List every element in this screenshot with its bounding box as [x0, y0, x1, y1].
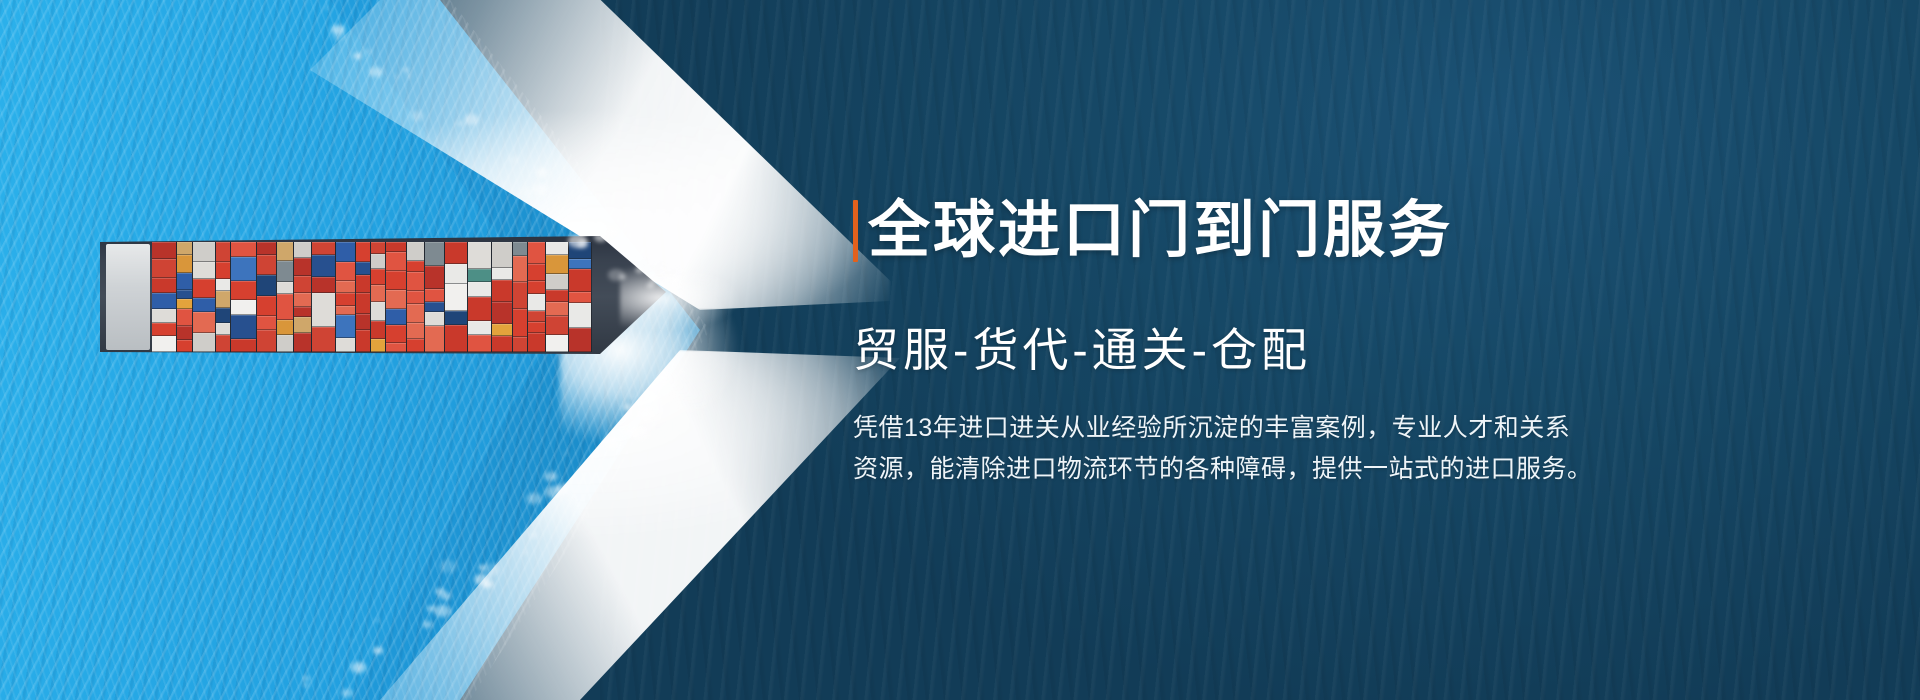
- container-stack: [193, 242, 216, 352]
- foam-speck: [544, 472, 558, 482]
- shipping-container: [528, 294, 545, 311]
- container-stack: [336, 242, 356, 352]
- foam-speck: [533, 184, 548, 195]
- foam-speck: [482, 563, 500, 576]
- shipping-container: [569, 292, 591, 302]
- container-stack: [546, 242, 569, 352]
- shipping-container: [193, 279, 215, 299]
- container-stack: [386, 242, 407, 352]
- foam-speck: [464, 114, 479, 125]
- shipping-container: [528, 322, 545, 333]
- foam-speck: [530, 533, 537, 538]
- shipping-container: [231, 315, 256, 339]
- shipping-container: [407, 272, 424, 292]
- shipping-container: [425, 289, 444, 302]
- foam-speck: [581, 217, 591, 224]
- shipping-container: [216, 323, 230, 334]
- shipping-container: [193, 333, 215, 352]
- foam-speck: [373, 647, 383, 654]
- shipping-container: [513, 337, 527, 352]
- container-stacks: [152, 242, 626, 352]
- body-line: 资源，能清除进口物流环节的各种障碍，提供一站式的进口服务。: [853, 449, 1753, 490]
- shipping-container: [294, 242, 311, 258]
- foam-speck: [577, 240, 588, 248]
- hero-banner: 全球进口门到门服务 贸服-货代-通关-仓配 凭借13年进口进关从业经验所沉淀的丰…: [0, 0, 1920, 700]
- container-stack: [407, 242, 425, 352]
- shipping-container: [193, 312, 215, 333]
- foam-speck: [635, 267, 644, 273]
- shipping-container: [407, 291, 424, 304]
- foam-speck: [563, 452, 568, 455]
- foam-speck: [630, 417, 634, 420]
- container-stack: [294, 242, 312, 352]
- foam-speck: [592, 453, 602, 460]
- shipping-container: [312, 242, 335, 255]
- shipping-container: [468, 335, 491, 352]
- shipping-container: [216, 262, 230, 279]
- shipping-container: [546, 290, 568, 303]
- shipping-container: [193, 262, 215, 278]
- shipping-container: [492, 280, 512, 302]
- container-stack: [513, 242, 528, 352]
- shipping-container: [277, 282, 293, 294]
- shipping-container: [336, 293, 355, 305]
- foam-speck: [483, 581, 493, 588]
- shipping-container: [177, 242, 192, 255]
- shipping-container: [216, 279, 230, 292]
- shipping-container: [492, 336, 512, 352]
- shipping-container: [294, 317, 311, 333]
- shipping-container: [152, 309, 176, 323]
- shipping-container: [216, 242, 230, 262]
- accent-bar-icon: [853, 200, 858, 262]
- shipping-container: [468, 297, 491, 320]
- shipping-container: [513, 242, 527, 256]
- shipping-container: [386, 290, 406, 309]
- shipping-container: [257, 275, 276, 297]
- shipping-container: [425, 326, 444, 352]
- container-ship: [100, 236, 670, 358]
- shipping-container: [492, 268, 512, 281]
- banner-content: 全球进口门到门服务 贸服-货代-通关-仓配 凭借13年进口进关从业经验所沉淀的丰…: [853, 200, 1853, 489]
- foam-speck: [605, 437, 621, 449]
- shipping-container: [336, 306, 355, 315]
- shipping-container: [468, 242, 491, 269]
- shipping-container: [386, 252, 406, 271]
- foam-speck: [647, 283, 654, 288]
- shipping-container: [277, 335, 293, 352]
- shipping-container: [356, 242, 370, 262]
- shipping-container: [177, 340, 192, 352]
- shipping-container: [371, 269, 385, 284]
- shipping-container: [371, 242, 385, 254]
- shipping-container: [177, 299, 192, 310]
- shipping-container: [152, 242, 176, 259]
- shipping-container: [492, 324, 512, 336]
- shipping-container: [152, 293, 176, 309]
- shipping-container: [425, 312, 444, 326]
- headline-row: 全球进口门到门服务: [853, 200, 1853, 262]
- foam-speck: [556, 484, 569, 493]
- foam-speck: [456, 121, 463, 126]
- shipping-container: [386, 309, 406, 325]
- shipping-container: [386, 325, 406, 343]
- shipping-container: [445, 242, 467, 264]
- shipping-container: [569, 259, 591, 269]
- shipping-container: [336, 315, 355, 338]
- shipping-container: [294, 307, 311, 317]
- shipping-container: [386, 242, 406, 252]
- shipping-container: [152, 323, 176, 335]
- shipping-container: [257, 330, 276, 352]
- shipping-container: [231, 257, 256, 281]
- foam-speck: [508, 156, 519, 164]
- page-title: 全球进口门到门服务: [868, 200, 1453, 262]
- ship-superstructure: [106, 244, 150, 350]
- shipping-container: [231, 242, 256, 257]
- shipping-container: [468, 282, 491, 297]
- shipping-container: [257, 255, 276, 275]
- shipping-container: [277, 320, 293, 335]
- shipping-container: [177, 309, 192, 325]
- container-stack: [569, 242, 592, 352]
- shipping-container: [528, 264, 545, 282]
- shipping-container: [371, 302, 385, 321]
- foam-speck: [369, 67, 383, 77]
- shipping-container: [356, 293, 370, 314]
- shipping-container: [546, 255, 568, 274]
- foam-speck: [521, 188, 532, 196]
- shipping-container: [468, 269, 491, 282]
- foam-speck: [526, 493, 541, 504]
- container-stack: [371, 242, 386, 352]
- shipping-container: [546, 274, 568, 290]
- foam-speck: [435, 588, 445, 595]
- foam-speck: [332, 31, 345, 40]
- shipping-container: [445, 284, 467, 311]
- shipping-container: [356, 314, 370, 330]
- foam-speck: [350, 639, 353, 641]
- container-stack: [277, 242, 294, 352]
- shipping-container: [177, 290, 192, 299]
- shipping-container: [513, 309, 527, 336]
- foam-speck: [631, 427, 649, 440]
- shipping-container: [277, 242, 293, 261]
- foam-speck: [353, 53, 362, 59]
- shipping-container: [569, 328, 591, 352]
- shipping-container: [528, 281, 545, 293]
- shipping-container: [407, 242, 424, 261]
- foam-speck: [523, 551, 527, 554]
- shipping-container: [546, 242, 568, 255]
- shipping-container: [546, 316, 568, 335]
- shipping-container: [445, 264, 467, 285]
- shipping-container: [425, 242, 444, 266]
- container-stack: [216, 242, 231, 352]
- container-stack: [492, 242, 513, 352]
- shipping-container: [513, 256, 527, 282]
- shipping-container: [177, 273, 192, 290]
- shipping-container: [216, 291, 230, 308]
- shipping-container: [336, 262, 355, 282]
- shipping-container: [407, 304, 424, 323]
- shipping-container: [216, 335, 230, 352]
- container-stack: [177, 242, 193, 352]
- shipping-container: [371, 285, 385, 302]
- shipping-container: [231, 339, 256, 352]
- shipping-container: [569, 269, 591, 292]
- foam-speck: [560, 210, 564, 213]
- shipping-container: [277, 261, 293, 282]
- shipping-container: [193, 242, 215, 262]
- foam-speck: [434, 605, 451, 617]
- container-stack: [152, 242, 177, 352]
- shipping-container: [528, 333, 545, 352]
- container-stack: [425, 242, 445, 352]
- foam-speck: [536, 168, 548, 176]
- foam-speck: [623, 404, 632, 410]
- shipping-container: [177, 255, 192, 273]
- shipping-container: [216, 308, 230, 324]
- shipping-container: [312, 327, 335, 352]
- shipping-container: [445, 311, 467, 325]
- shipping-container: [257, 316, 276, 330]
- body-line: 凭借13年进口进关从业经验所沉淀的丰富案例，专业人才和关系: [853, 408, 1753, 449]
- shipping-container: [528, 311, 545, 323]
- shipping-container: [336, 338, 355, 352]
- shipping-container: [152, 259, 176, 277]
- shipping-container: [312, 255, 335, 278]
- shipping-container: [294, 258, 311, 276]
- foam-speck: [364, 49, 371, 54]
- shipping-container: [336, 281, 355, 293]
- shipping-container: [231, 300, 256, 315]
- container-stack: [445, 242, 468, 352]
- subtitle: 贸服-货代-通关-仓配: [853, 314, 1853, 380]
- shipping-container: [445, 325, 467, 352]
- shipping-container: [569, 303, 591, 328]
- shipping-container: [152, 278, 176, 293]
- shipping-container: [546, 302, 568, 316]
- shipping-container: [294, 276, 311, 293]
- shipping-container: [356, 275, 370, 293]
- foam-speck: [403, 68, 408, 72]
- shipping-container: [468, 321, 491, 335]
- container-stack: [356, 242, 371, 352]
- shipping-container: [257, 296, 276, 315]
- shipping-container: [177, 326, 192, 340]
- shipping-container: [546, 335, 568, 352]
- shipping-container: [371, 321, 385, 339]
- shipping-container: [386, 271, 406, 290]
- shipping-container: [425, 302, 444, 313]
- shipping-container: [407, 261, 424, 271]
- container-stack: [257, 242, 277, 352]
- shipping-container: [492, 302, 512, 324]
- shipping-container: [492, 242, 512, 268]
- shipping-container: [407, 323, 424, 339]
- shipping-container: [356, 330, 370, 352]
- shipping-container: [371, 254, 385, 269]
- shipping-container: [407, 339, 424, 352]
- ship-bow-wash: [620, 266, 770, 330]
- shipping-container: [336, 242, 355, 262]
- foam-speck: [410, 111, 423, 120]
- shipping-container: [513, 282, 527, 310]
- shipping-container: [371, 339, 385, 352]
- shipping-container: [152, 336, 176, 353]
- shipping-container: [294, 333, 311, 352]
- shipping-container: [193, 298, 215, 312]
- shipping-container: [257, 242, 276, 255]
- shipping-container: [231, 281, 256, 300]
- shipping-container: [312, 293, 335, 327]
- shipping-container: [277, 294, 293, 320]
- container-stack: [312, 242, 336, 352]
- body-description: 凭借13年进口进关从业经验所沉淀的丰富案例，专业人才和关系 资源，能清除进口物流…: [853, 408, 1753, 489]
- shipping-container: [528, 242, 545, 264]
- shipping-container: [425, 266, 444, 289]
- foam-speck: [351, 662, 366, 673]
- shipping-container: [312, 277, 335, 293]
- shipping-container: [356, 262, 370, 275]
- shipping-container: [386, 343, 406, 352]
- shipping-container: [294, 293, 311, 307]
- container-stack: [528, 242, 546, 352]
- container-stack: [231, 242, 257, 352]
- container-stack: [468, 242, 492, 352]
